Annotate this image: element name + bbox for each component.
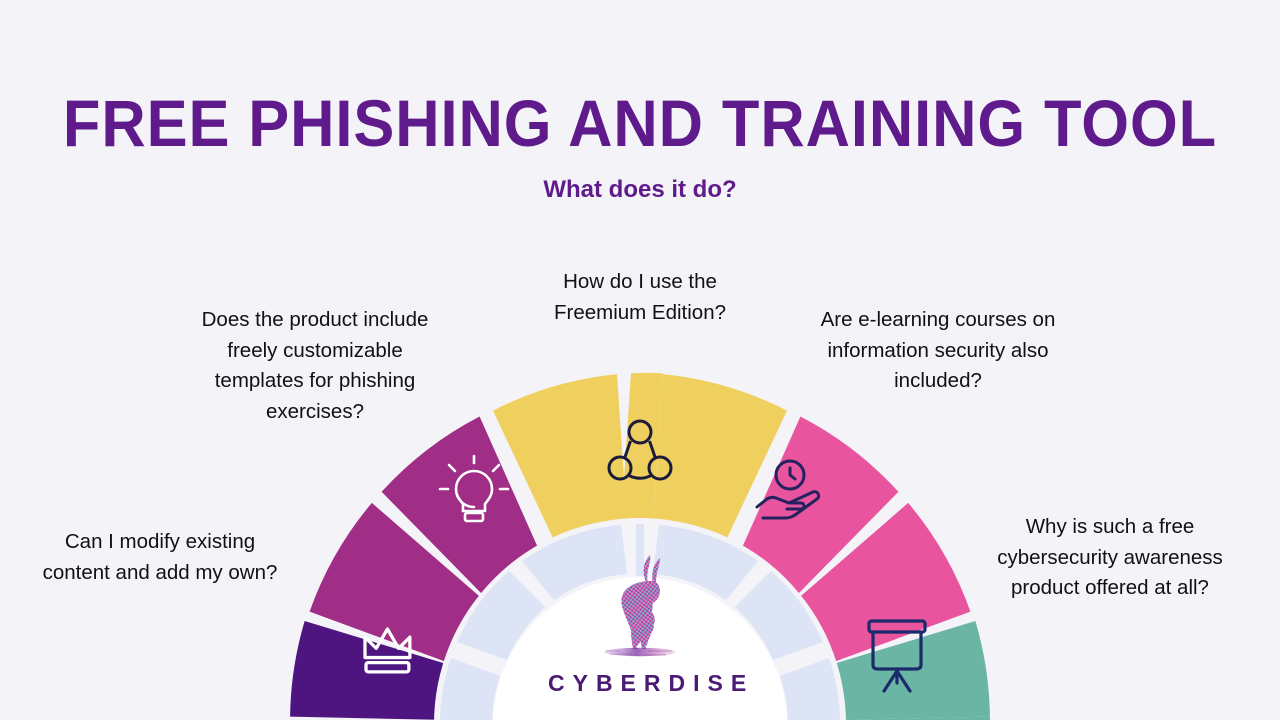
callout-modify-content: Can I modify existing content and add my… xyxy=(40,527,280,588)
page-subtitle: What does it do? xyxy=(0,176,1280,204)
callout-elearning-courses: Are e-learning courses on information se… xyxy=(818,305,1058,397)
inner-ring-seg-3 xyxy=(636,524,644,576)
page-title: FREE PHISHING AND TRAINING TOOL xyxy=(45,90,1235,156)
callout-why-free: Why is such a free cybersecurity awarene… xyxy=(990,512,1230,604)
callout-freemium-edition: How do I use the Freemium Edition? xyxy=(520,267,760,328)
page-header: FREE PHISHING AND TRAINING TOOL What doe… xyxy=(0,0,1280,204)
callout-customizable-templates: Does the product include freely customiz… xyxy=(180,305,450,427)
